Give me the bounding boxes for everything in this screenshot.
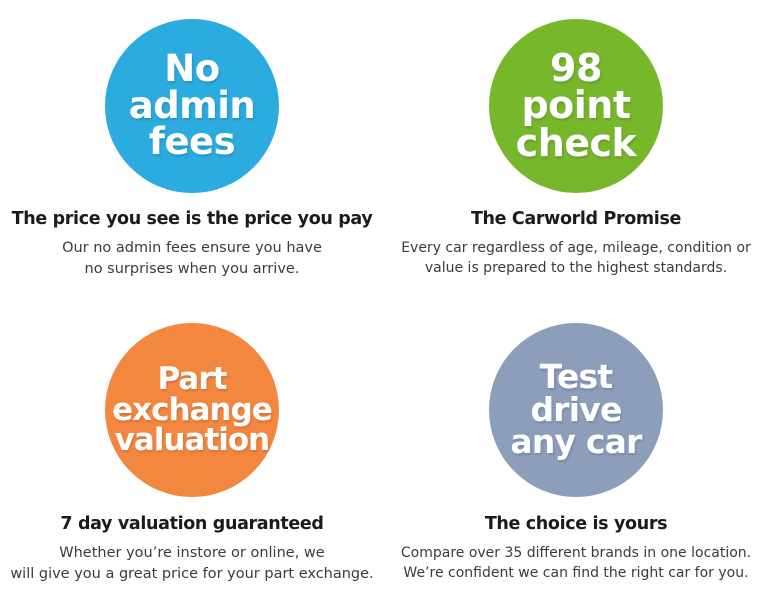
badge-line: Part [112, 364, 272, 395]
badge-line: 98 [516, 50, 637, 88]
badge-line: point [516, 87, 637, 125]
usp-body: Every car regardless of age, mileage, co… [401, 238, 751, 279]
badge-line: exchange [112, 395, 272, 426]
badge-text: Part exchange valuation [112, 364, 272, 456]
badge-text: Test drive any car [510, 361, 641, 459]
badge-line: any car [510, 426, 641, 459]
badge-line: fees [129, 124, 256, 161]
usp-card-carworld-promise: 98 point check The Carworld Promise Ever… [384, 0, 768, 307]
badge-line: No [129, 51, 256, 88]
usp-grid: No admin fees The price you see is the p… [0, 0, 768, 614]
usp-heading: The price you see is the price you pay [12, 209, 373, 229]
usp-body: Whether you’re instore or online, we wil… [10, 543, 373, 585]
badge-line: admin [129, 88, 256, 125]
badge-part-exchange-valuation: Part exchange valuation [105, 323, 279, 497]
usp-card-test-drive: Test drive any car The choice is yours C… [384, 307, 768, 614]
badge-text: No admin fees [129, 51, 256, 161]
badge-line: Test [510, 361, 641, 394]
usp-card-no-admin-fees: No admin fees The price you see is the p… [0, 0, 384, 307]
badge-test-drive-any-car: Test drive any car [489, 323, 663, 497]
usp-card-part-exchange: Part exchange valuation 7 day valuation … [0, 307, 384, 614]
badge-line: valuation [112, 425, 272, 456]
badge-text: 98 point check [516, 50, 637, 163]
usp-heading: The choice is yours [485, 514, 667, 534]
badge-line: check [516, 125, 637, 163]
usp-body: Compare over 35 different brands in one … [401, 543, 751, 584]
badge-98-point-check: 98 point check [489, 19, 663, 193]
usp-heading: 7 day valuation guaranteed [60, 514, 323, 534]
usp-body: Our no admin fees ensure you have no sur… [62, 238, 322, 280]
usp-heading: The Carworld Promise [471, 209, 681, 229]
badge-no-admin-fees: No admin fees [105, 19, 279, 193]
